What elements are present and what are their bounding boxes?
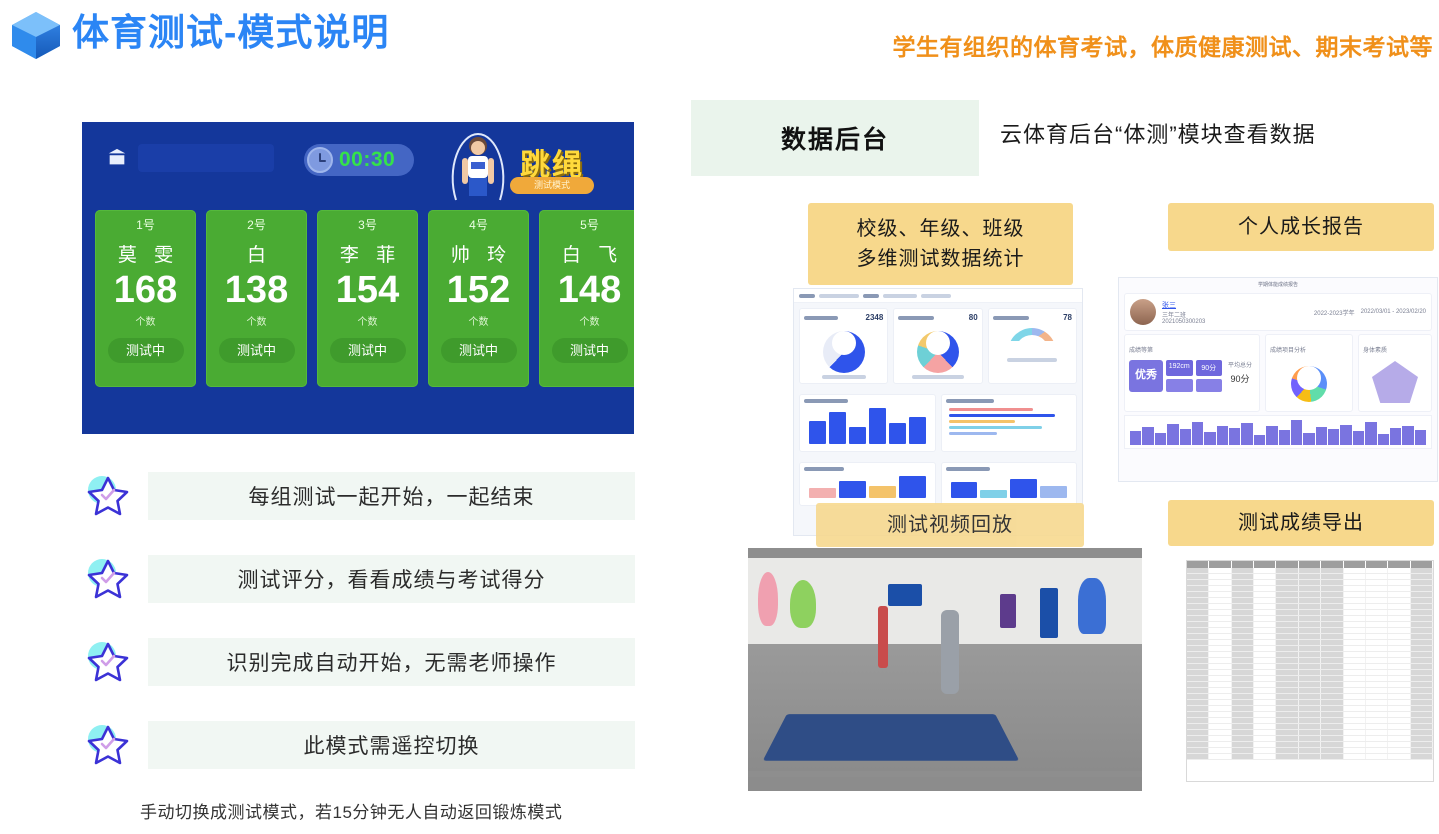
student-score: 168 — [114, 268, 177, 312]
table-cell — [1209, 670, 1231, 675]
table-cell — [1232, 694, 1254, 699]
table-cell — [1388, 568, 1410, 573]
table-cell — [1366, 640, 1388, 645]
table-cell — [1299, 658, 1321, 663]
test-video-playback[interactable] — [748, 548, 1142, 791]
table-cell — [1411, 664, 1433, 669]
filter-select[interactable] — [819, 294, 859, 298]
hbar-chart — [946, 403, 1073, 440]
table-cell — [1232, 658, 1254, 663]
table-cell — [1299, 706, 1321, 711]
table-cell — [1232, 568, 1254, 573]
table-cell — [1321, 658, 1343, 663]
bar-chart-panel-3[interactable] — [941, 462, 1078, 506]
table-cell — [1388, 670, 1410, 675]
table-cell — [1276, 598, 1298, 603]
status-badge: 测试中 — [330, 338, 406, 363]
table-cell — [1366, 646, 1388, 651]
bullet-text: 此模式需遥控切换 — [304, 730, 480, 760]
table-cell — [1344, 712, 1366, 717]
table-cell — [1254, 670, 1276, 675]
table-cell — [1321, 712, 1343, 717]
wall-art-tree — [790, 580, 816, 628]
table-cell — [1187, 616, 1209, 621]
student-card[interactable]: 3号 李 菲 154 个数 测试中 — [317, 210, 418, 387]
table-cell — [1276, 712, 1298, 717]
table-cell — [1321, 646, 1343, 651]
table-cell — [1254, 652, 1276, 657]
chart-row — [794, 389, 1082, 457]
table-cell — [1276, 580, 1298, 585]
table-cell — [1232, 616, 1254, 621]
donut-chart — [917, 331, 959, 373]
table-cell — [1366, 724, 1388, 729]
table-cell — [1187, 574, 1209, 579]
table-cell — [1388, 652, 1410, 657]
table-cell — [1187, 688, 1209, 693]
table-cell — [1388, 580, 1410, 585]
stat-card[interactable]: 78 — [988, 308, 1077, 384]
table-cell — [1209, 682, 1231, 687]
student-score: 148 — [558, 268, 621, 312]
table-cell — [1344, 586, 1366, 591]
table-cell — [1299, 628, 1321, 633]
stat-title-row: 78 — [993, 313, 1072, 322]
table-cell — [1411, 682, 1433, 687]
table-cell — [1209, 598, 1231, 603]
grade-panel[interactable]: 成绩等第 优秀 192cm 90分 — [1124, 334, 1260, 412]
table-cell — [1366, 658, 1388, 663]
table-cell — [1276, 586, 1298, 591]
table-cell — [1366, 652, 1388, 657]
student-card[interactable]: 2号 白 138 个数 测试中 — [206, 210, 307, 387]
table-cell — [1276, 622, 1298, 627]
table-cell — [1411, 676, 1433, 681]
table-cell — [1209, 718, 1231, 723]
student-card[interactable]: 5号 白 飞 148 个数 测试中 — [539, 210, 634, 387]
metric-lung: 90分 — [1196, 360, 1223, 376]
bullet-text-box: 此模式需遥控切换 — [148, 721, 635, 769]
table-cell — [1187, 700, 1209, 705]
student-number: 4号 — [469, 216, 488, 233]
table-cell — [1388, 628, 1410, 633]
timer-display: 00:30 — [304, 144, 414, 176]
list-item: 测试评分，看看成绩与考试得分 — [82, 545, 642, 628]
stat-value: 2348 — [866, 313, 884, 322]
table-cell — [1321, 730, 1343, 735]
filter-select[interactable] — [883, 294, 917, 298]
table-cell — [1187, 640, 1209, 645]
table-cell — [1276, 754, 1298, 759]
table-cell — [1321, 586, 1343, 591]
table-cell — [1299, 742, 1321, 747]
table-cell — [1321, 580, 1343, 585]
radar-chart — [1372, 361, 1418, 403]
dashboard-screenshot[interactable]: 2348 80 78 — [793, 288, 1083, 536]
student-number: 2号 — [247, 216, 266, 233]
backend-label: 数据后台 — [781, 120, 889, 156]
table-cell — [1254, 604, 1276, 609]
table-header-row — [1187, 561, 1433, 568]
table-cell — [1321, 574, 1343, 579]
table-cell — [1411, 748, 1433, 753]
table-cell — [1276, 664, 1298, 669]
report-title: 学期体能成绩报告 — [1119, 278, 1437, 291]
avg-label: 平均总分 — [1225, 360, 1255, 369]
table-cell — [1254, 622, 1276, 627]
chart-legend — [822, 375, 866, 379]
table-cell — [1187, 604, 1209, 609]
table-cell — [1299, 700, 1321, 705]
table-cell — [1344, 736, 1366, 741]
list-item: 识别完成自动开始，无需老师操作 — [82, 628, 642, 711]
cube-logo-icon — [8, 8, 64, 62]
table-cell — [1299, 586, 1321, 591]
table-cell — [1388, 706, 1410, 711]
student-name: 白 飞 — [556, 240, 623, 267]
pie-chart — [1291, 366, 1327, 402]
table-cell — [1344, 742, 1366, 747]
people-icon — [804, 316, 838, 320]
table-cell — [1366, 574, 1388, 579]
table-cell — [1411, 592, 1433, 597]
table-cell — [1254, 580, 1276, 585]
tag-personal-growth-report: 个人成长报告 — [1168, 203, 1434, 251]
range-value[interactable]: 2022/03/01 - 2023/02/20 — [1361, 309, 1426, 315]
table-cell — [1388, 718, 1410, 723]
table-cell — [1344, 748, 1366, 753]
table-cell — [1209, 580, 1231, 585]
table-cell — [1232, 736, 1254, 741]
table-cell — [1209, 592, 1231, 597]
bar-chart — [804, 471, 931, 501]
dashboard-filter-bar[interactable] — [794, 289, 1082, 303]
table-cell — [1232, 700, 1254, 705]
table-cell — [1299, 712, 1321, 717]
table-cell — [1187, 646, 1209, 651]
table-cell — [1366, 700, 1388, 705]
table-cell — [1232, 682, 1254, 687]
table-cell — [1388, 664, 1410, 669]
table-cell — [1276, 688, 1298, 693]
table-cell — [1187, 712, 1209, 717]
tag-label: 测试成绩导出 — [1238, 508, 1364, 538]
table-cell — [1299, 652, 1321, 657]
table-cell — [1321, 700, 1343, 705]
table-cell — [1187, 724, 1209, 729]
table-cell — [1276, 736, 1298, 741]
tag-test-video-playback: 测试视频回放 — [816, 503, 1084, 547]
tag-line-2: 多维测试数据统计 — [857, 244, 1025, 274]
table-cell — [1209, 736, 1231, 741]
table-cell — [1388, 748, 1410, 753]
table-cell — [1187, 628, 1209, 633]
table-cell — [1366, 694, 1388, 699]
table-cell — [1232, 610, 1254, 615]
table-cell — [1388, 574, 1410, 579]
table-cell — [1411, 706, 1433, 711]
table-cell — [1366, 592, 1388, 597]
table-cell — [1276, 682, 1298, 687]
jump-rope-mat — [763, 714, 1020, 761]
table-cell — [1209, 604, 1231, 609]
table-cell — [1299, 694, 1321, 699]
list-item: 此模式需遥控切换 — [82, 711, 642, 794]
table-cell — [1209, 730, 1231, 735]
table-cell — [1187, 652, 1209, 657]
student-card[interactable]: 1号 莫 雯 168 个数 测试中 — [95, 210, 196, 387]
table-cell — [1254, 646, 1276, 651]
bar-chart — [804, 403, 931, 447]
table-cell — [1411, 742, 1433, 747]
table-cell — [1299, 616, 1321, 621]
table-cell — [1344, 670, 1366, 675]
radar-section-title: 身体素质 — [1363, 348, 1387, 354]
table-cell — [1411, 598, 1433, 603]
pie-panel[interactable]: 成绩项目分析 — [1265, 334, 1353, 412]
person-student — [941, 610, 959, 694]
table-cell — [1232, 730, 1254, 735]
table-cell — [1254, 628, 1276, 633]
table-cell — [1388, 592, 1410, 597]
tag-line-1: 校级、年级、班级 — [857, 214, 1025, 244]
table-cell — [1299, 718, 1321, 723]
table-cell — [1321, 622, 1343, 627]
student-number: 1号 — [136, 216, 155, 233]
bullet-text: 测试评分，看看成绩与考试得分 — [238, 564, 546, 594]
table-cell — [1299, 580, 1321, 585]
table-cell — [1232, 640, 1254, 645]
table-cell — [1344, 664, 1366, 669]
table-cell — [1366, 580, 1388, 585]
table-cell — [1254, 736, 1276, 741]
bullet-text-box: 每组测试一起开始，一起结束 — [148, 472, 635, 520]
table-cell — [1209, 700, 1231, 705]
tag-label: 个人成长报告 — [1238, 212, 1364, 242]
bar-chart-panel[interactable] — [799, 394, 936, 452]
student-name: 白 — [241, 240, 272, 267]
table-cell — [1366, 754, 1388, 759]
table-cell — [1388, 622, 1410, 627]
table-cell — [1299, 574, 1321, 579]
table-cell — [1299, 634, 1321, 639]
grade-badge: 优秀 — [1129, 360, 1163, 392]
status-badge: 测试中 — [552, 338, 628, 363]
status-badge: 测试中 — [108, 338, 184, 363]
table-cell — [1187, 610, 1209, 615]
table-cell — [1299, 730, 1321, 735]
table-cell — [1254, 718, 1276, 723]
table-cell — [1276, 676, 1298, 681]
table-cell — [1276, 730, 1298, 735]
table-cell — [1411, 718, 1433, 723]
table-cell — [1344, 580, 1366, 585]
table-cell — [1344, 724, 1366, 729]
table-cell — [1344, 688, 1366, 693]
grade-section-title: 成绩等第 — [1129, 348, 1153, 354]
table-cell — [1276, 616, 1298, 621]
stat-card[interactable]: 2348 — [799, 308, 888, 384]
table-cell — [1344, 640, 1366, 645]
table-cell — [1388, 586, 1410, 591]
bar-chart-panel-2[interactable] — [799, 462, 936, 506]
table-cell — [1299, 604, 1321, 609]
table-cell — [1299, 622, 1321, 627]
table-row — [1187, 754, 1433, 760]
backend-description: 云体育后台“体测”模块查看数据 — [1000, 117, 1316, 149]
table-cell — [1344, 628, 1366, 633]
pie-section-title: 成绩项目分析 — [1270, 348, 1306, 354]
wall-art-boy — [1078, 578, 1106, 634]
table-cell — [1254, 634, 1276, 639]
table-cell — [1187, 634, 1209, 639]
table-cell — [1321, 628, 1343, 633]
table-cell — [1321, 604, 1343, 609]
table-cell — [1276, 640, 1298, 645]
list-item: 每组测试一起开始，一起结束 — [82, 462, 642, 545]
score-unit: 个数 — [358, 313, 378, 328]
table-cell — [1411, 670, 1433, 675]
stat-card[interactable]: 80 — [893, 308, 982, 384]
bullet-text: 每组测试一起开始，一起结束 — [249, 481, 535, 511]
table-cell — [1411, 610, 1433, 615]
table-cell — [1388, 730, 1410, 735]
bullet-text: 识别完成自动开始，无需老师操作 — [227, 647, 557, 677]
table-cell — [1344, 574, 1366, 579]
table-cell — [1232, 634, 1254, 639]
student-number: 3号 — [358, 216, 377, 233]
table-cell — [1187, 580, 1209, 585]
table-cell — [1388, 646, 1410, 651]
table-cell — [1232, 586, 1254, 591]
table-cell — [1254, 724, 1276, 729]
table-cell — [1388, 598, 1410, 603]
bullet-text-box: 识别完成自动开始，无需老师操作 — [148, 638, 635, 686]
student-score: 152 — [447, 268, 510, 312]
table-cell — [1388, 736, 1410, 741]
filter-label — [799, 294, 815, 298]
table-cell — [1411, 724, 1433, 729]
table-cell — [1299, 748, 1321, 753]
table-cell — [1344, 754, 1366, 759]
table-cell — [1187, 568, 1209, 573]
table-cell — [1276, 694, 1298, 699]
report-student-header: 张三 三年二班 2021050300203 2022-2023学年 2022/0… — [1124, 293, 1432, 331]
table-cell — [1321, 664, 1343, 669]
table-cell — [1232, 574, 1254, 579]
table-cell — [1321, 652, 1343, 657]
table-cell — [1388, 682, 1410, 687]
personal-report-screenshot[interactable]: 学期体能成绩报告 张三 三年二班 2021050300203 2022-2023… — [1118, 277, 1438, 482]
table-cell — [1321, 742, 1343, 747]
table-cell — [1388, 634, 1410, 639]
table-cell — [1388, 616, 1410, 621]
video-caption-bar — [748, 777, 1142, 791]
table-cell — [1209, 610, 1231, 615]
table-cell — [1254, 748, 1276, 753]
student-name[interactable]: 张三 — [1162, 300, 1308, 310]
avg-value: 90分 — [1230, 374, 1249, 384]
student-name: 莫 雯 — [112, 240, 179, 267]
table-cell — [1366, 604, 1388, 609]
table-cell — [1187, 676, 1209, 681]
table-cell — [1411, 634, 1433, 639]
table-cell — [1187, 754, 1209, 759]
table-cell — [1232, 622, 1254, 627]
backend-label-box: 数据后台 — [691, 100, 979, 176]
score-export-spreadsheet[interactable] — [1186, 560, 1434, 782]
star-check-icon — [82, 636, 134, 688]
term-value[interactable]: 2022-2023学年 — [1314, 308, 1355, 317]
table-cell — [1411, 700, 1433, 705]
table-cell — [1321, 706, 1343, 711]
table-cell — [1411, 604, 1433, 609]
gauge-chart — [1008, 328, 1056, 354]
student-card[interactable]: 4号 帅 玲 152 个数 测试中 — [428, 210, 529, 387]
table-cell — [1209, 628, 1231, 633]
filter-select[interactable] — [921, 294, 951, 298]
table-cell — [1209, 616, 1231, 621]
table-cell — [1366, 568, 1388, 573]
table-cell — [1276, 658, 1298, 663]
table-cell — [1366, 682, 1388, 687]
table-cell — [1209, 568, 1231, 573]
table-cell — [1232, 580, 1254, 585]
student-name: 李 菲 — [334, 240, 401, 267]
table-cell — [1209, 658, 1231, 663]
table-cell — [1344, 682, 1366, 687]
chart-legend — [1007, 358, 1057, 362]
table-cell — [1321, 748, 1343, 753]
table-cell — [1232, 676, 1254, 681]
table-cell — [1232, 724, 1254, 729]
student-name: 帅 玲 — [445, 240, 512, 267]
table-cell — [1344, 622, 1366, 627]
table-cell — [1232, 748, 1254, 753]
table-cell — [1344, 592, 1366, 597]
device-screen-panel: 00:30 跳绳 测试模式 1号 莫 雯 168 个数 测试中 — [82, 122, 634, 434]
table-cell — [1254, 658, 1276, 663]
table-cell — [1187, 742, 1209, 747]
table-cell — [1254, 598, 1276, 603]
table-cell — [1344, 598, 1366, 603]
student-card-list: 1号 莫 雯 168 个数 测试中 2号 白 138 个数 测试中 3号 李 菲… — [95, 210, 634, 387]
table-cell — [1209, 676, 1231, 681]
table-cell — [1209, 634, 1231, 639]
hbar-chart-panel[interactable] — [941, 394, 1078, 452]
table-cell — [1366, 712, 1388, 717]
table-cell — [1209, 712, 1231, 717]
student-id: 2021050300203 — [1162, 319, 1308, 325]
radar-panel[interactable]: 身体素质 — [1358, 334, 1432, 412]
table-cell — [1276, 604, 1298, 609]
table-cell — [1276, 742, 1298, 747]
table-cell — [1299, 664, 1321, 669]
wall-art-figure — [758, 572, 778, 626]
table-cell — [1299, 682, 1321, 687]
table-cell — [1366, 706, 1388, 711]
table-cell — [1232, 604, 1254, 609]
table-cell — [1321, 640, 1343, 645]
table-cell — [1187, 694, 1209, 699]
table-cell — [1209, 706, 1231, 711]
table-cell — [1344, 706, 1366, 711]
trend-chart[interactable] — [1124, 415, 1432, 449]
table-cell — [1321, 568, 1343, 573]
table-cell — [1254, 712, 1276, 717]
table-cell — [1366, 730, 1388, 735]
table-cell — [1254, 586, 1276, 591]
